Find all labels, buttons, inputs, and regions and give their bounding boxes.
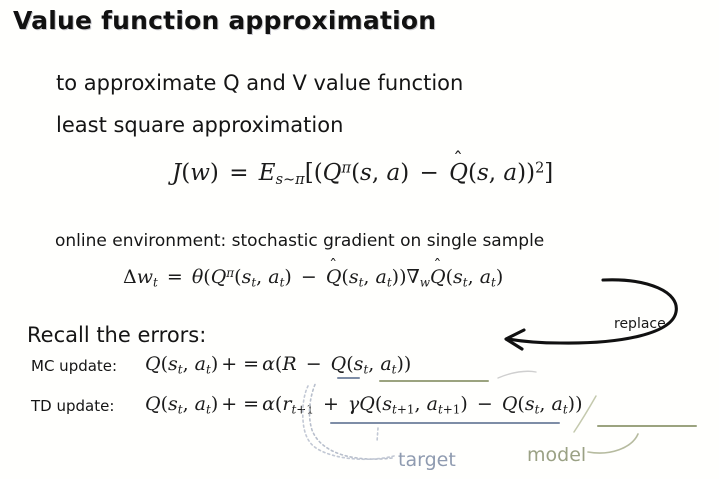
equation-sgd-update: Δwt = θ(Qπ(st, at) − ˆQ(st, at))∇wˆQ(st,…	[123, 266, 503, 288]
model-annotation-label: model	[527, 444, 586, 466]
body-line-least-square: least square approximation	[56, 113, 343, 137]
replace-annotation-label: replace	[614, 316, 666, 332]
equation-objective: J(w) = Es∼π[(Qπ(s, a) − ˆQ(s, a))2]	[172, 160, 553, 186]
model-leader-td	[588, 434, 638, 453]
page-title: Value function approximation	[13, 6, 436, 35]
mc-update-label: MC update:	[31, 357, 117, 375]
slide-canvas: Value function approximation to approxim…	[0, 0, 719, 479]
target-tick	[377, 428, 378, 442]
td-update-label: TD update:	[31, 397, 114, 415]
mc-model-underline	[379, 380, 489, 382]
replace-arrow-path	[508, 280, 676, 343]
td-model-underline	[597, 425, 697, 427]
replace-arrowhead	[506, 330, 524, 349]
body-line-online-environment: online environment: stochastic gradient …	[55, 231, 544, 251]
mc-trailing-curl	[498, 371, 536, 378]
equation-mc-update: Q(st, at)+=α(R − Q(st, at))	[145, 353, 411, 375]
equation-td-update: Q(st, at)+=α(rt+1 + γQ(st+1, at+1) − Q(s…	[145, 393, 583, 415]
target-annotation-label: target	[398, 449, 456, 471]
recall-heading: Recall the errors:	[27, 323, 206, 347]
mc-target-underline	[337, 377, 360, 379]
td-target-underline	[330, 422, 560, 424]
body-line-approximate: to approximate Q and V value function	[56, 71, 463, 95]
